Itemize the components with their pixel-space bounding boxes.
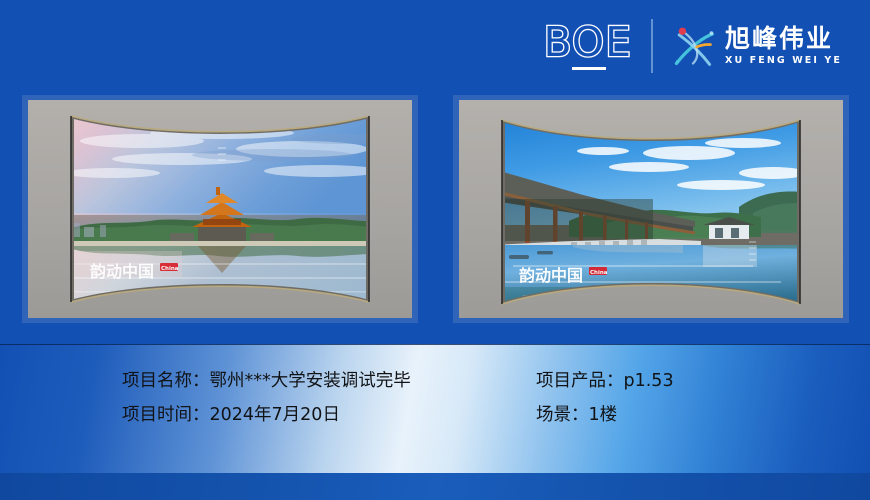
project-product-row: 项目产品：p1.53 <box>536 373 674 391</box>
project-scene-row: 场景：1楼 <box>536 407 617 425</box>
photo-left-image: 韵动中国 China <box>22 95 418 323</box>
boe-underline <box>572 67 606 70</box>
bottom-strip <box>0 473 870 500</box>
logo-divider <box>651 19 653 73</box>
photo-right-image: 韵动中国 China <box>453 95 849 323</box>
svg-text:China: China <box>590 270 608 276</box>
project-name-row: 项目名称：鄂州***大学安装调试完毕 <box>122 373 411 391</box>
logo-group: BOE 旭峰伟业 XU FENG WEI YE <box>543 16 842 76</box>
partner-text: 旭峰伟业 XU FENG WEI YE <box>725 26 842 66</box>
svg-text:韵动中国: 韵动中国 <box>90 262 154 281</box>
partner-chinese-name: 旭峰伟业 <box>725 26 842 52</box>
photo-curved-led-display-garden-corridor: 韵动中国 China <box>453 95 849 323</box>
slide-root: BOE 旭峰伟业 XU FENG WEI YE <box>0 0 870 500</box>
project-time-row: 项目时间：2024年7月20日 <box>122 407 340 425</box>
svg-text:China: China <box>161 266 179 272</box>
photo-curved-led-display-forbidden-city: 韵动中国 China <box>22 95 418 323</box>
svg-text:韵动中国: 韵动中国 <box>519 266 583 285</box>
partner-logo: 旭峰伟业 XU FENG WEI YE <box>670 18 842 74</box>
boe-wordmark: BOE <box>543 22 632 63</box>
xufengweiye-mark-icon <box>670 23 716 69</box>
project-info-panel: 项目名称：鄂州***大学安装调试完毕 项目时间：2024年7月20日 项目产品：… <box>0 344 870 473</box>
partner-pinyin-name: XU FENG WEI YE <box>725 56 842 66</box>
header-bar: BOE 旭峰伟业 XU FENG WEI YE <box>0 0 870 92</box>
boe-logo-icon: BOE <box>543 22 632 70</box>
project-info-grid: 项目名称：鄂州***大学安装调试完毕 项目时间：2024年7月20日 项目产品：… <box>0 344 870 473</box>
